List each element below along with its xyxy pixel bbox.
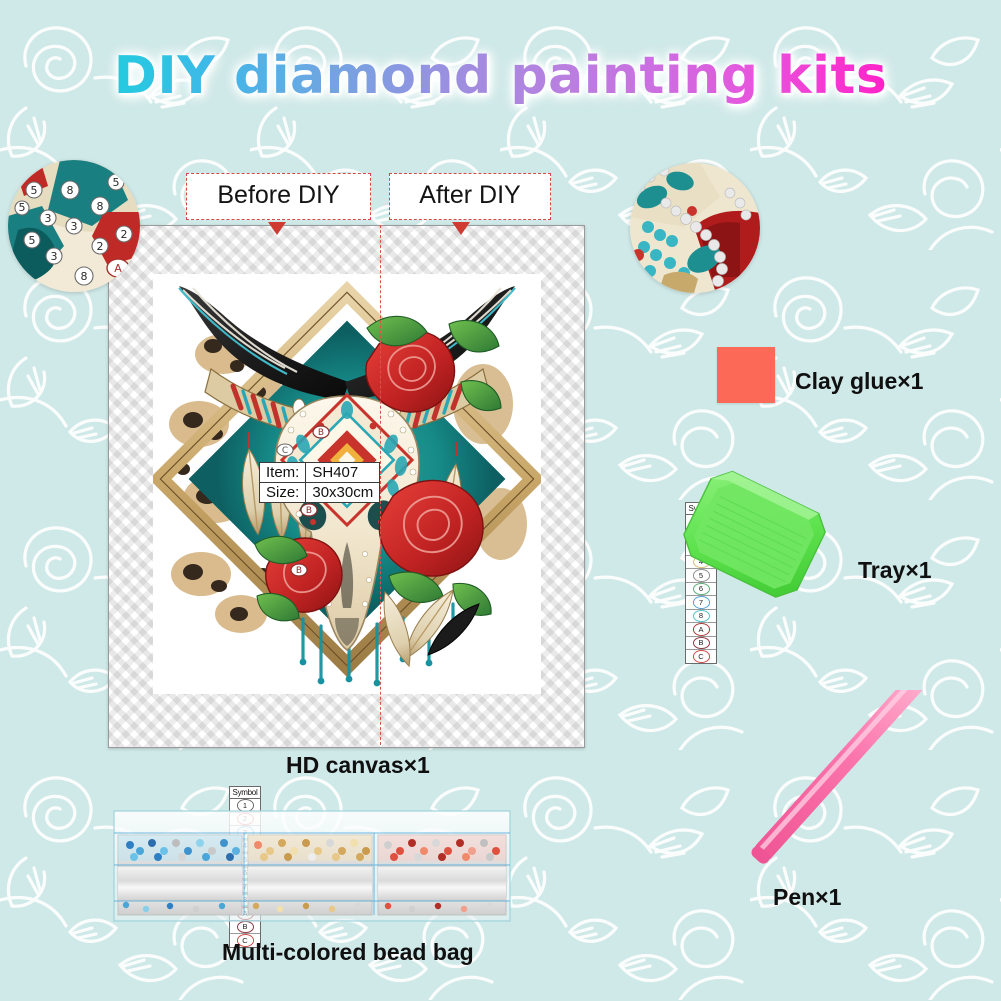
- svg-text:8: 8: [67, 184, 74, 197]
- svg-text:3: 3: [45, 212, 52, 225]
- bead-bag-image: [112, 805, 512, 930]
- page-title: DIY diamond painting kits: [114, 46, 888, 106]
- item-info-table: Item: SH407 Size: 30x30cm: [259, 462, 380, 503]
- item-key: Item:: [260, 463, 306, 483]
- svg-text:5: 5: [19, 201, 26, 214]
- legend-symbol-B: B: [693, 637, 710, 650]
- legend-row: B: [686, 637, 716, 651]
- after-diy-closeup: [630, 163, 760, 293]
- before-diy-closeup: 588 353 852 235 A: [8, 160, 140, 292]
- pen-image: [650, 690, 970, 910]
- arrow-before-icon: [268, 222, 286, 235]
- tray-image: [660, 470, 845, 630]
- item-value: SH407: [306, 463, 380, 483]
- clay-glue-label: Clay glue×1: [795, 368, 923, 395]
- bead-bag-label: Multi-colored bead bag: [222, 939, 474, 966]
- svg-text:3: 3: [71, 220, 78, 233]
- svg-text:5: 5: [29, 234, 36, 247]
- size-value: 30x30cm: [306, 483, 380, 503]
- clay-glue-square: [717, 347, 775, 403]
- svg-text:2: 2: [121, 228, 128, 241]
- pen-label: Pen×1: [773, 884, 841, 911]
- svg-text:8: 8: [97, 200, 104, 213]
- product-infographic: DIY diamond painting kits Before DIY Aft…: [0, 0, 1001, 1001]
- svg-text:C: C: [282, 446, 288, 456]
- hd-canvas-label: HD canvas×1: [286, 752, 430, 779]
- legend-row: C: [686, 650, 716, 663]
- legend-symbol-C: C: [693, 650, 710, 663]
- arrow-after-icon: [452, 222, 470, 235]
- size-key: Size:: [260, 483, 306, 503]
- svg-text:3: 3: [51, 250, 58, 263]
- svg-text:B: B: [306, 506, 312, 516]
- table-row: Item: SH407: [260, 463, 380, 483]
- svg-text:2: 2: [97, 240, 104, 253]
- hd-canvas-card: BA BB CC Item: SH407 Size: 30x30cm: [108, 225, 585, 748]
- svg-text:5: 5: [113, 176, 120, 189]
- svg-text:B: B: [296, 566, 302, 576]
- legend-header: Symbol: [230, 787, 260, 799]
- svg-text:B: B: [318, 428, 324, 438]
- svg-text:8: 8: [81, 270, 88, 283]
- before-closeup-svg: 588 353 852 235 A: [8, 160, 140, 292]
- tag-after-diy: After DIY: [389, 173, 551, 220]
- before-after-divider: [380, 225, 381, 745]
- svg-text:5: 5: [31, 184, 38, 197]
- tray-label: Tray×1: [858, 557, 932, 584]
- table-row: Size: 30x30cm: [260, 483, 380, 503]
- page-title-wrap: DIY diamond painting kits: [0, 46, 1001, 106]
- tag-before-diy: Before DIY: [186, 173, 371, 220]
- after-closeup-svg: [630, 163, 760, 293]
